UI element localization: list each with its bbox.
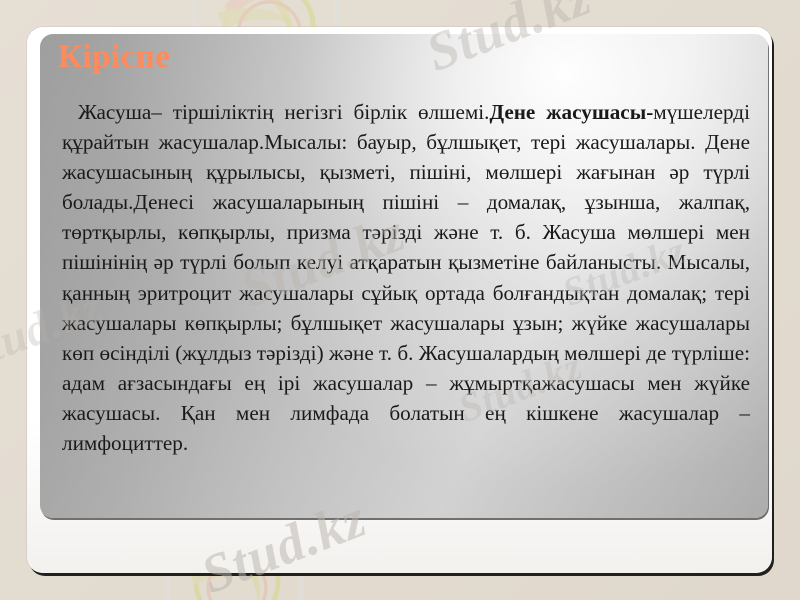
- content-box: Кіріспе Жасуша– тіршіліктің негізгі бірл…: [40, 34, 768, 518]
- page-title: Кіріспе: [58, 38, 170, 78]
- slide-canvas: Кіріспе Жасуша– тіршіліктің негізгі бірл…: [0, 0, 800, 600]
- body-paragraph: Жасуша– тіршіліктің негізгі бірлік өлшем…: [62, 97, 750, 458]
- body-segment-bold: Дене жасушасы-: [489, 100, 653, 124]
- body-segment-2: мүшелерді құрайтын жасушалар.Мысалы: бау…: [62, 100, 750, 455]
- body-segment-1: Жасуша– тіршіліктің негізгі бірлік өлшем…: [78, 100, 489, 124]
